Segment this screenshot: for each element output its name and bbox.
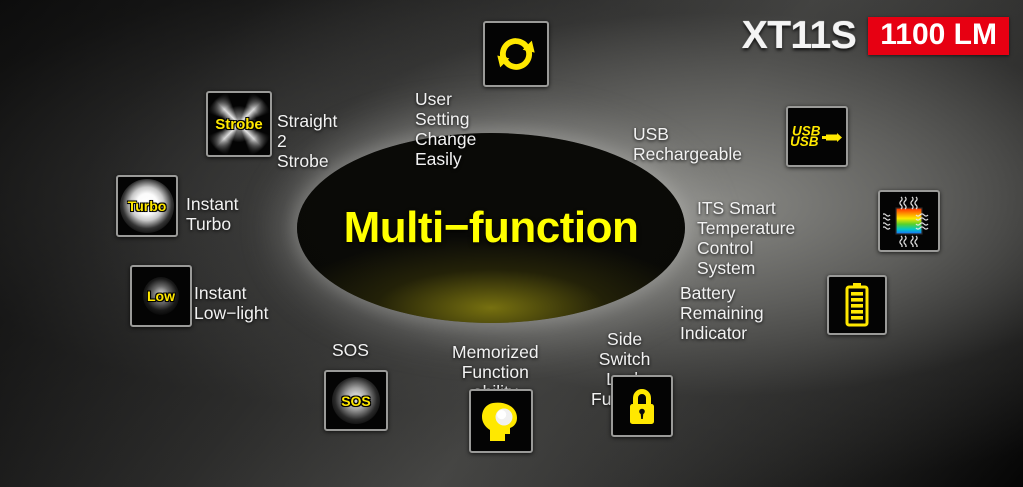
- turbo-tile-label: Turbo: [128, 198, 167, 214]
- strobe-caption: Straight 2 Strobe: [277, 111, 337, 171]
- user-setting-caption: User Setting Change Easily: [415, 89, 476, 169]
- battery-indicator-tile: [827, 275, 887, 335]
- usb-rechargeable-tile: USB USB: [786, 106, 848, 167]
- its-temperature-caption: ITS Smart Temperature Control System: [697, 198, 795, 278]
- side-switch-lock-tile: [611, 375, 673, 437]
- strobe-burst-icon: Strobe: [208, 93, 270, 155]
- thermal-gradient-icon: [883, 195, 935, 247]
- sos-tile: SOS: [324, 370, 388, 431]
- low-light-caption: Instant Low−light: [194, 283, 268, 323]
- its-temperature-tile: [878, 190, 940, 252]
- user-setting-tile: [483, 21, 549, 87]
- low-tile-label: Low: [147, 288, 175, 304]
- product-model-name: XT11S: [742, 16, 857, 55]
- head-memory-icon: [476, 396, 526, 446]
- battery-icon: [842, 282, 872, 328]
- turbo-glow-icon: Turbo: [118, 177, 176, 235]
- sos-glow-icon: SOS: [326, 372, 386, 429]
- memorized-tile: [469, 389, 533, 453]
- low-light-tile: Low: [130, 265, 192, 327]
- infographic-canvas: XT11S 1100 LM Multi−function User Settin…: [0, 0, 1023, 487]
- usb-rechargeable-caption: USB Rechargeable: [633, 124, 742, 164]
- battery-indicator-caption: Battery Remaining Indicator: [680, 283, 764, 343]
- product-header: XT11S 1100 LM: [742, 16, 1009, 55]
- low-glow-icon: Low: [132, 267, 190, 325]
- refresh-cycle-icon: [493, 31, 539, 77]
- turbo-tile: Turbo: [116, 175, 178, 237]
- turbo-caption: Instant Turbo: [186, 194, 239, 234]
- sos-caption: SOS: [332, 340, 369, 360]
- sos-tile-label: SOS: [341, 393, 371, 409]
- center-ellipse: Multi−function: [297, 133, 685, 323]
- usb-logo-icon: USB USB: [791, 122, 843, 152]
- svg-text:USB: USB: [791, 134, 819, 149]
- strobe-tile: Strobe: [206, 91, 272, 157]
- center-title: Multi−function: [344, 203, 639, 253]
- strobe-tile-label: Strobe: [215, 116, 263, 133]
- padlock-icon: [620, 384, 664, 428]
- lumens-badge: 1100 LM: [868, 17, 1009, 55]
